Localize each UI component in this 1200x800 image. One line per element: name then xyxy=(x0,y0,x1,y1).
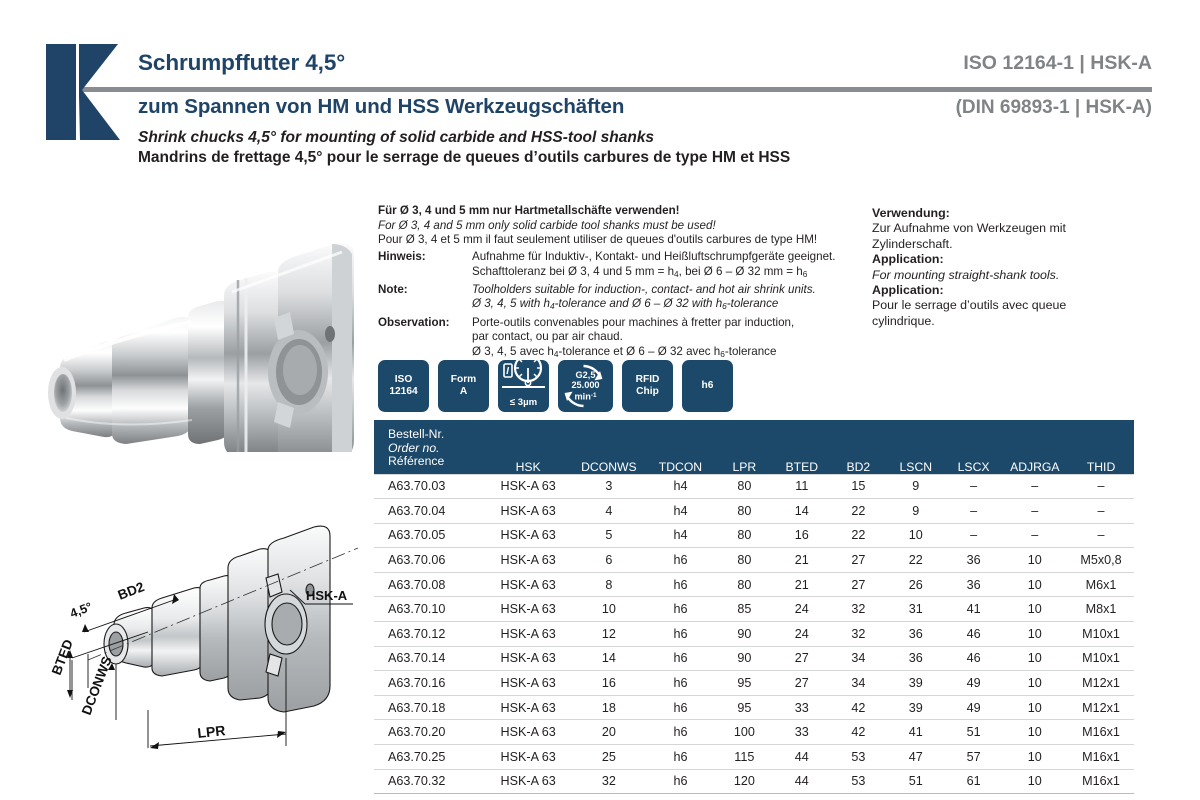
cell-adjrga: – xyxy=(1002,474,1069,499)
cell-adjrga: 10 xyxy=(1002,548,1069,573)
cell-lpr: 80 xyxy=(716,499,773,524)
table-row[interactable]: A63.70.18HSK-A 6318h6953342394910M12x1 xyxy=(374,695,1134,720)
cell-lscx: 36 xyxy=(946,548,1002,573)
cell-thid: M12x1 xyxy=(1068,695,1134,720)
badge-form-a[interactable]: Form A xyxy=(438,360,489,412)
application-de-line2: Zylinderschaft. xyxy=(872,237,1152,252)
cell-lscn: 10 xyxy=(886,523,946,548)
cell-lscx: 46 xyxy=(946,622,1002,647)
cell-lscn: 22 xyxy=(886,548,946,573)
cell-bted: 16 xyxy=(773,523,831,548)
application-fr-line2: cylindrique. xyxy=(872,314,1152,329)
cell-thid: M16x1 xyxy=(1068,745,1134,770)
application-heading-en: Application: xyxy=(872,252,1152,267)
cell-dconws: 18 xyxy=(573,695,646,720)
brand-logo-k xyxy=(46,44,120,140)
cell-adjrga: 10 xyxy=(1002,572,1069,597)
warning-de: Für Ø 3, 4 und 5 mm nur Hartmetallschäft… xyxy=(378,204,817,219)
note-hinweis: Hinweis: Aufnahme für Induktiv-, Kontakt… xyxy=(378,250,835,281)
cell-bted: 21 xyxy=(773,572,831,597)
cell-lpr: 90 xyxy=(716,622,773,647)
page-subtitle: zum Spannen von HM und HSS Werkzeugschäf… xyxy=(138,95,624,119)
cell-lpr: 80 xyxy=(716,523,773,548)
cell-dconws: 12 xyxy=(573,622,646,647)
cell-hsk: HSK-A 63 xyxy=(484,622,573,647)
cell-order: A63.70.18 xyxy=(374,695,484,720)
cell-adjrga: 10 xyxy=(1002,646,1069,671)
cell-lscx: – xyxy=(946,523,1002,548)
cell-lscn: 41 xyxy=(886,720,946,745)
cell-dconws: 14 xyxy=(573,646,646,671)
balance-text: G2,5 25.000 min-1 xyxy=(571,370,599,402)
cell-order: A63.70.05 xyxy=(374,523,484,548)
cell-order: A63.70.08 xyxy=(374,572,484,597)
cell-lscx: – xyxy=(946,499,1002,524)
application-heading-de: Verwendung: xyxy=(872,206,1152,221)
cell-order: A63.70.10 xyxy=(374,597,484,622)
cell-tdcon: h6 xyxy=(645,769,716,794)
cell-order: A63.70.06 xyxy=(374,548,484,573)
table-row[interactable]: A63.70.32HSK-A 6332h61204453516110M16x1 xyxy=(374,769,1134,794)
cell-order: A63.70.25 xyxy=(374,745,484,770)
cell-hsk: HSK-A 63 xyxy=(484,646,573,671)
cell-adjrga: 10 xyxy=(1002,622,1069,647)
cell-thid: M16x1 xyxy=(1068,720,1134,745)
label-hsk-a: HSK-A xyxy=(306,588,348,603)
header-rule xyxy=(46,87,1152,92)
cell-hsk: HSK-A 63 xyxy=(484,720,573,745)
cell-order: A63.70.03 xyxy=(374,474,484,499)
cell-lscx: 61 xyxy=(946,769,1002,794)
cell-dconws: 6 xyxy=(573,548,646,573)
table-row[interactable]: A63.70.20HSK-A 6320h61003342415110M16x1 xyxy=(374,720,1134,745)
cell-hsk: HSK-A 63 xyxy=(484,548,573,573)
badge-balance-grade[interactable]: G2,5 25.000 min-1 xyxy=(558,360,613,412)
page-title-fr: Mandrins de frettage 4,5° pour le serrag… xyxy=(138,149,790,167)
cell-bd2: 22 xyxy=(831,523,886,548)
cell-dconws: 3 xyxy=(573,474,646,499)
cell-lscx: 36 xyxy=(946,572,1002,597)
cell-thid: M10x1 xyxy=(1068,646,1134,671)
cell-lpr: 95 xyxy=(716,671,773,696)
table-header-row: Bestell-Nr. Order no. Référence HSK DCON… xyxy=(374,420,1134,474)
cell-tdcon: h4 xyxy=(645,523,716,548)
cell-hsk: HSK-A 63 xyxy=(484,769,573,794)
cell-hsk: HSK-A 63 xyxy=(484,499,573,524)
cell-hsk: HSK-A 63 xyxy=(484,572,573,597)
badge-divider xyxy=(502,386,545,388)
cell-hsk: HSK-A 63 xyxy=(484,523,573,548)
catalog-page: Schrumpffutter 4,5° ISO 12164-1 | HSK-A … xyxy=(0,0,1200,800)
cell-order: A63.70.32 xyxy=(374,769,484,794)
cell-lscn: 31 xyxy=(886,597,946,622)
col-header-lscn: LSCN xyxy=(886,420,946,474)
cell-lscx: 41 xyxy=(946,597,1002,622)
cell-bted: 11 xyxy=(773,474,831,499)
table-row[interactable]: A63.70.05HSK-A 635h480162210––– xyxy=(374,523,1134,548)
cell-lscn: 47 xyxy=(886,745,946,770)
cell-bd2: 32 xyxy=(831,622,886,647)
cell-bd2: 32 xyxy=(831,597,886,622)
cell-tdcon: h4 xyxy=(645,474,716,499)
cell-lpr: 90 xyxy=(716,646,773,671)
badge-tolerance-h6[interactable]: h6 xyxy=(682,360,733,412)
cell-bd2: 27 xyxy=(831,548,886,573)
note-line-2: Ø 3, 4, 5 avec h4-tolerance et Ø 6 – Ø 3… xyxy=(472,345,794,361)
cell-lscn: 51 xyxy=(886,769,946,794)
table-row[interactable]: A63.70.06HSK-A 636h6802127223610M5x0,8 xyxy=(374,548,1134,573)
cell-bted: 27 xyxy=(773,646,831,671)
note-line-2: Schafttoleranz bei Ø 3, 4 und 5 mm = h4,… xyxy=(472,265,835,281)
cell-bted: 21 xyxy=(773,548,831,573)
col-header-lpr: LPR xyxy=(716,420,773,474)
cell-lscn: 39 xyxy=(886,695,946,720)
feature-badges: ISO 12164 Form A xyxy=(378,360,733,412)
cell-adjrga: 10 xyxy=(1002,671,1069,696)
cell-thid: M5x0,8 xyxy=(1068,548,1134,573)
cell-thid: M8x1 xyxy=(1068,597,1134,622)
cell-thid: M6x1 xyxy=(1068,572,1134,597)
cell-bd2: 53 xyxy=(831,745,886,770)
table-row[interactable]: A63.70.10HSK-A 6310h6852432314110M8x1 xyxy=(374,597,1134,622)
cell-lpr: 85 xyxy=(716,597,773,622)
cell-adjrga: 10 xyxy=(1002,597,1069,622)
cell-dconws: 25 xyxy=(573,745,646,770)
cell-adjrga: 10 xyxy=(1002,745,1069,770)
cell-tdcon: h6 xyxy=(645,597,716,622)
note-line-2: Ø 3, 4, 5 with h4-tolerance and Ø 6 – Ø … xyxy=(472,297,816,313)
warning-en: For Ø 3, 4 and 5 mm only solid carbide t… xyxy=(378,219,817,234)
cell-hsk: HSK-A 63 xyxy=(484,671,573,696)
cell-bted: 24 xyxy=(773,622,831,647)
runout-value: ≤ 3µm xyxy=(510,397,537,409)
cell-tdcon: h6 xyxy=(645,622,716,647)
cell-tdcon: h6 xyxy=(645,695,716,720)
cell-bted: 33 xyxy=(773,720,831,745)
cell-tdcon: h4 xyxy=(645,499,716,524)
cell-order: A63.70.20 xyxy=(374,720,484,745)
table-row[interactable]: A63.70.03HSK-A 633h48011159––– xyxy=(374,474,1134,499)
cell-bd2: 34 xyxy=(831,646,886,671)
cell-lpr: 115 xyxy=(716,745,773,770)
table-row[interactable]: A63.70.25HSK-A 6325h61154453475710M16x1 xyxy=(374,745,1134,770)
cell-order: A63.70.12 xyxy=(374,622,484,647)
cell-bd2: 53 xyxy=(831,769,886,794)
table-row[interactable]: A63.70.04HSK-A 634h48014229––– xyxy=(374,499,1134,524)
note-label: Note: xyxy=(378,283,472,314)
cell-lpr: 95 xyxy=(716,695,773,720)
cell-dconws: 20 xyxy=(573,720,646,745)
standard-label-secondary: (DIN 69893-1 | HSK-A) xyxy=(956,97,1152,119)
table-row[interactable]: A63.70.16HSK-A 6316h6952734394910M12x1 xyxy=(374,671,1134,696)
cell-adjrga: 10 xyxy=(1002,720,1069,745)
label-lpr: LPR xyxy=(197,722,227,741)
cell-dconws: 4 xyxy=(573,499,646,524)
application-de-line1: Zur Aufnahme von Werkzeugen mit xyxy=(872,221,1152,236)
cell-bd2: 27 xyxy=(831,572,886,597)
cell-lpr: 80 xyxy=(716,474,773,499)
cell-bd2: 42 xyxy=(831,720,886,745)
cell-hsk: HSK-A 63 xyxy=(484,474,573,499)
cell-bd2: 34 xyxy=(831,671,886,696)
cell-bd2: 22 xyxy=(831,499,886,524)
cell-hsk: HSK-A 63 xyxy=(484,695,573,720)
cell-bted: 44 xyxy=(773,769,831,794)
col-header-lscx: LSCX xyxy=(946,420,1002,474)
cell-order: A63.70.14 xyxy=(374,646,484,671)
page-title: Schrumpffutter 4,5° xyxy=(138,50,345,76)
dial-gauge-icon xyxy=(498,360,549,386)
application-en-line1: For mounting straight-shank tools. xyxy=(872,268,1152,283)
cell-order: A63.70.04 xyxy=(374,499,484,524)
notes-block: Hinweis: Aufnahme für Induktiv-, Kontakt… xyxy=(378,250,835,363)
cell-lscn: 39 xyxy=(886,671,946,696)
cell-adjrga: 10 xyxy=(1002,769,1069,794)
cell-lscn: 9 xyxy=(886,474,946,499)
note-note: Note: Toolholders suitable for induction… xyxy=(378,283,835,314)
cell-bted: 24 xyxy=(773,597,831,622)
cell-bd2: 15 xyxy=(831,474,886,499)
cell-lscn: 26 xyxy=(886,572,946,597)
col-header-order-no: Bestell-Nr. Order no. Référence xyxy=(374,420,484,474)
badge-iso-12164[interactable]: ISO 12164 xyxy=(378,360,429,412)
cell-tdcon: h6 xyxy=(645,548,716,573)
col-header-adjrga: ADJRGA xyxy=(1002,420,1069,474)
cell-bted: 44 xyxy=(773,745,831,770)
application-fr-line1: Pour le serrage d’outils avec queue xyxy=(872,298,1152,313)
table-row[interactable]: A63.70.12HSK-A 6312h6902432364610M10x1 xyxy=(374,622,1134,647)
standard-label: ISO 12164-1 | HSK-A xyxy=(963,52,1152,75)
badge-rfid-chip[interactable]: RFID Chip xyxy=(622,360,673,412)
cell-lpr: 120 xyxy=(716,769,773,794)
cell-lscx: 57 xyxy=(946,745,1002,770)
note-label: Hinweis: xyxy=(378,250,472,281)
table-row[interactable]: A63.70.08HSK-A 638h6802127263610M6x1 xyxy=(374,572,1134,597)
cell-lscx: 46 xyxy=(946,646,1002,671)
cell-tdcon: h6 xyxy=(645,671,716,696)
col-header-tdcon: TDCON xyxy=(645,420,716,474)
label-angle: 4,5° xyxy=(68,600,94,621)
cell-dconws: 10 xyxy=(573,597,646,622)
note-text: Aufnahme für Induktiv-, Kontakt- und Hei… xyxy=(472,250,835,281)
application-block: Verwendung: Zur Aufnahme von Werkzeugen … xyxy=(872,206,1152,329)
label-dconws: DCONWS xyxy=(79,654,115,717)
cell-tdcon: h6 xyxy=(645,572,716,597)
cell-dconws: 16 xyxy=(573,671,646,696)
col-header-bd2: BD2 xyxy=(831,420,886,474)
application-heading-fr: Application: xyxy=(872,283,1152,298)
warning-fr: Pour Ø 3, 4 et 5 mm il faut seulement ut… xyxy=(378,233,817,248)
col-header-dconws: DCONWS xyxy=(573,420,646,474)
cell-lscx: – xyxy=(946,474,1002,499)
note-line-1b: par contact, ou par air chaud. xyxy=(472,330,794,345)
note-observation: Observation: Porte-outils convenables po… xyxy=(378,316,835,361)
cell-lscn: 36 xyxy=(886,622,946,647)
col-header-bted: BTED xyxy=(773,420,831,474)
cell-bted: 14 xyxy=(773,499,831,524)
cell-hsk: HSK-A 63 xyxy=(484,745,573,770)
cell-lscx: 49 xyxy=(946,671,1002,696)
cell-adjrga: 10 xyxy=(1002,695,1069,720)
cell-thid: – xyxy=(1068,523,1134,548)
note-text: Toolholders suitable for induction-, con… xyxy=(472,283,816,314)
cell-tdcon: h6 xyxy=(645,720,716,745)
cell-dconws: 32 xyxy=(573,769,646,794)
note-line-1: Porte-outils convenables pour machines à… xyxy=(472,316,794,331)
badge-runout-accuracy[interactable]: ≤ 3µm xyxy=(498,360,549,412)
cell-hsk: HSK-A 63 xyxy=(484,597,573,622)
note-text: Porte-outils convenables pour machines à… xyxy=(472,316,794,361)
cell-tdcon: h6 xyxy=(645,646,716,671)
cell-order: A63.70.16 xyxy=(374,671,484,696)
page-title-en: Shrink chucks 4,5° for mounting of solid… xyxy=(138,129,654,147)
cell-tdcon: h6 xyxy=(645,745,716,770)
note-line-1: Aufnahme für Induktiv-, Kontakt- und Hei… xyxy=(472,250,835,265)
cell-lpr: 80 xyxy=(716,572,773,597)
cell-thid: M16x1 xyxy=(1068,769,1134,794)
cell-dconws: 5 xyxy=(573,523,646,548)
note-line-1: Toolholders suitable for induction-, con… xyxy=(472,283,816,298)
table-row[interactable]: A63.70.14HSK-A 6314h6902734364610M10x1 xyxy=(374,646,1134,671)
product-photo xyxy=(42,222,372,452)
table-body: A63.70.03HSK-A 633h48011159–––A63.70.04H… xyxy=(374,474,1134,794)
label-bd2: BD2 xyxy=(116,579,147,603)
col-header-thid: THID xyxy=(1068,420,1134,474)
cell-bd2: 42 xyxy=(831,695,886,720)
cell-bted: 33 xyxy=(773,695,831,720)
cell-thid: – xyxy=(1068,474,1134,499)
col-header-hsk: HSK xyxy=(484,420,573,474)
note-label: Observation: xyxy=(378,316,472,361)
cell-bted: 27 xyxy=(773,671,831,696)
cell-lscn: 36 xyxy=(886,646,946,671)
specifications-table: Bestell-Nr. Order no. Référence HSK DCON… xyxy=(374,420,1134,794)
cell-adjrga: – xyxy=(1002,499,1069,524)
cell-lscx: 49 xyxy=(946,695,1002,720)
cell-adjrga: – xyxy=(1002,523,1069,548)
carbide-warning: Für Ø 3, 4 und 5 mm nur Hartmetallschäft… xyxy=(378,204,817,248)
cell-thid: – xyxy=(1068,499,1134,524)
cell-lpr: 80 xyxy=(716,548,773,573)
dimension-drawing: BTED DCONWS BD2 4,5° LPR HSK-A xyxy=(28,520,373,765)
cell-dconws: 8 xyxy=(573,572,646,597)
cell-thid: M10x1 xyxy=(1068,622,1134,647)
cell-lscx: 51 xyxy=(946,720,1002,745)
cell-lscn: 9 xyxy=(886,499,946,524)
cell-thid: M12x1 xyxy=(1068,671,1134,696)
cell-lpr: 100 xyxy=(716,720,773,745)
